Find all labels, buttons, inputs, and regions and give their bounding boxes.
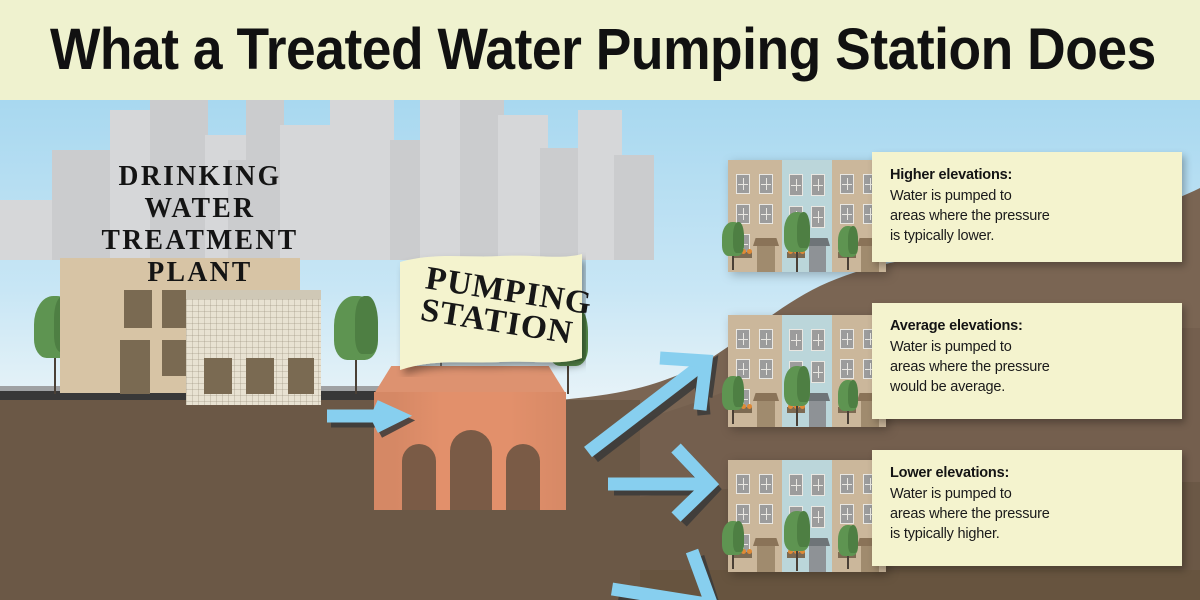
callout-line: areas where the pressure (890, 206, 1166, 226)
arrow-strokes (327, 358, 711, 600)
plant-label-line-1: DRINKING WATER (62, 160, 338, 224)
tree (838, 226, 858, 270)
tree (722, 521, 744, 569)
tree (838, 380, 858, 424)
tree (784, 511, 810, 571)
callout-body: Water is pumped to areas where the press… (890, 186, 1166, 246)
callout-heading: Lower elevations: (890, 464, 1166, 483)
callout-body: Water is pumped to areas where the press… (890, 484, 1166, 544)
callout-line: Water is pumped to (890, 337, 1166, 357)
tree (722, 376, 744, 424)
callout-line: areas where the pressure (890, 504, 1166, 524)
callout-heading: Average elevations: (890, 317, 1166, 336)
callout-lower-elevations: Lower elevations: Water is pumped to are… (872, 450, 1182, 566)
plant-label-line-2: TREATMENT PLANT (62, 224, 338, 288)
plant-label: DRINKING WATER TREATMENT PLANT (62, 160, 338, 288)
higher-arrow-shaft (588, 363, 704, 452)
callout-line: Water is pumped to (890, 484, 1166, 504)
callout-heading: Higher elevations: (890, 166, 1166, 185)
callout-line: is typically higher. (890, 524, 1166, 544)
callout-body: Water is pumped to areas where the press… (890, 337, 1166, 397)
illustration-scene: PUMPING STATION DRINKING WATER TREATMENT… (0, 100, 1200, 600)
callout-line: would be average. (890, 377, 1166, 397)
infographic-canvas: PUMPING STATION DRINKING WATER TREATMENT… (0, 0, 1200, 600)
tree (722, 222, 744, 270)
callout-average-elevations: Average elevations: Water is pumped to a… (872, 303, 1182, 419)
tree (838, 525, 858, 569)
callout-line: Water is pumped to (890, 186, 1166, 206)
callout-line: is typically lower. (890, 226, 1166, 246)
tree (784, 212, 810, 272)
header-band: What a Treated Water Pumping Station Doe… (0, 0, 1200, 100)
callout-higher-elevations: Higher elevations: Water is pumped to ar… (872, 152, 1182, 262)
page-title: What a Treated Water Pumping Station Doe… (50, 19, 1156, 81)
callout-line: areas where the pressure (890, 357, 1166, 377)
tree (784, 366, 810, 426)
